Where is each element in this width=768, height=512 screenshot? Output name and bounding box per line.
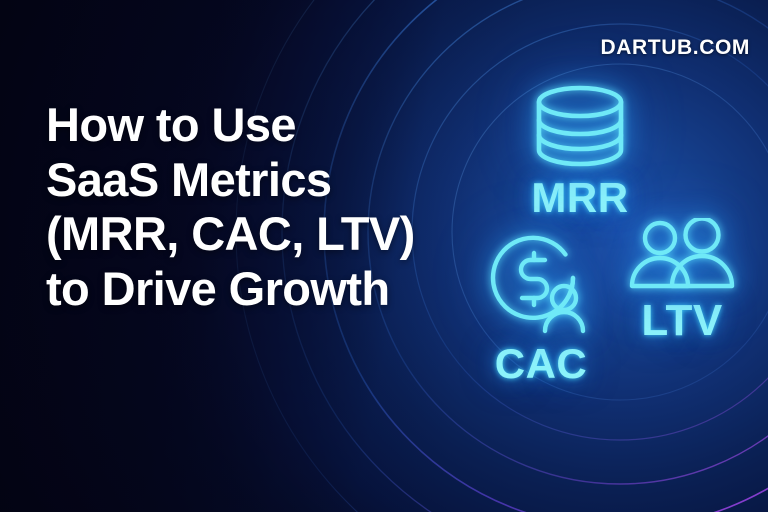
title-line-2: SaaS Metrics <box>46 153 446 208</box>
poster-canvas: DARTUB.COM How to Use SaaS Metrics (MRR,… <box>0 0 768 512</box>
metric-ltv: LTV <box>612 218 752 343</box>
database-cylinder-icon <box>526 84 634 173</box>
site-logo[interactable]: DARTUB.COM <box>601 36 750 60</box>
metric-ltv-label: LTV <box>641 299 722 343</box>
metric-mrr: MRR <box>500 84 660 219</box>
metric-cac: CAC <box>468 232 614 385</box>
title-line-3: (MRR, CAC, LTV) <box>46 207 446 262</box>
two-users-icon <box>624 218 740 297</box>
page-title: How to Use SaaS Metrics (MRR, CAC, LTV) … <box>46 98 446 316</box>
dollar-circle-person-icon <box>481 232 601 341</box>
title-line-1: How to Use <box>46 98 446 153</box>
metric-cac-label: CAC <box>495 343 588 385</box>
title-line-4: to Drive Growth <box>46 262 446 317</box>
metric-mrr-label: MRR <box>531 177 628 219</box>
